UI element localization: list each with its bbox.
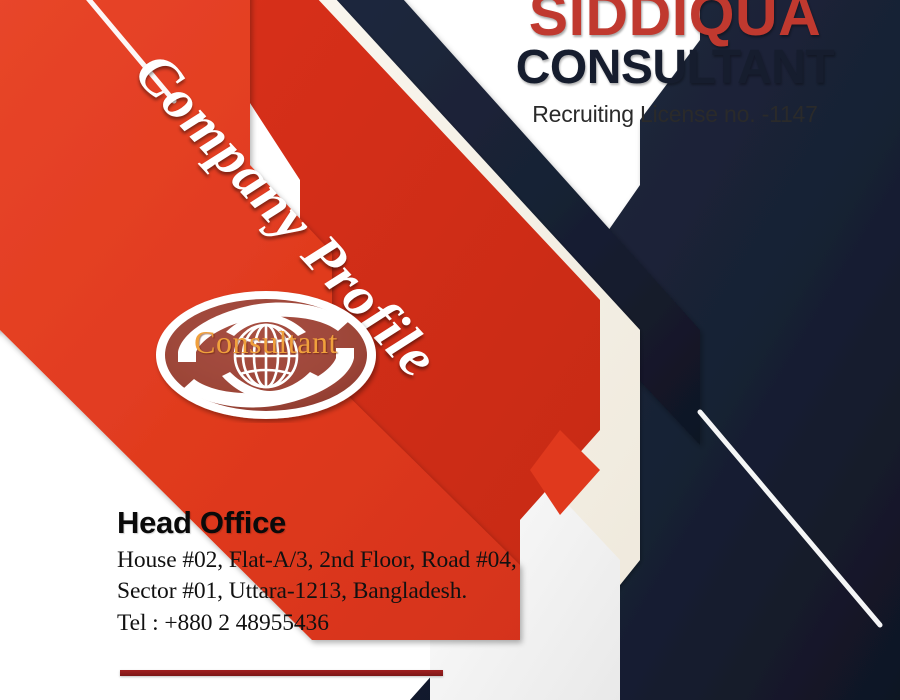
company-profile-cover: SIDDIQUA CONSULTANT Recruiting License n… xyxy=(0,0,900,700)
brand-name: SIDDIQUA xyxy=(455,0,895,45)
head-office-phone: Tel : +880 2 48955436 xyxy=(117,608,517,639)
logo-emblem-icon xyxy=(152,288,380,423)
brand-block: SIDDIQUA CONSULTANT Recruiting License n… xyxy=(455,0,895,128)
bottom-divider-rule xyxy=(120,670,443,676)
head-office-address-line: House #02, Flat-A/3, 2nd Floor, Road #04… xyxy=(117,545,517,576)
head-office-title: Head Office xyxy=(117,505,517,541)
brand-subtitle: CONSULTANT xyxy=(455,43,895,93)
head-office-address-line: Sector #01, Uttara-1213, Bangladesh. xyxy=(117,576,517,607)
logo: Consultant xyxy=(152,288,380,423)
head-office-block: Head Office House #02, Flat-A/3, 2nd Flo… xyxy=(117,505,517,639)
license-text: Recruiting License no. -1147 xyxy=(455,101,895,128)
